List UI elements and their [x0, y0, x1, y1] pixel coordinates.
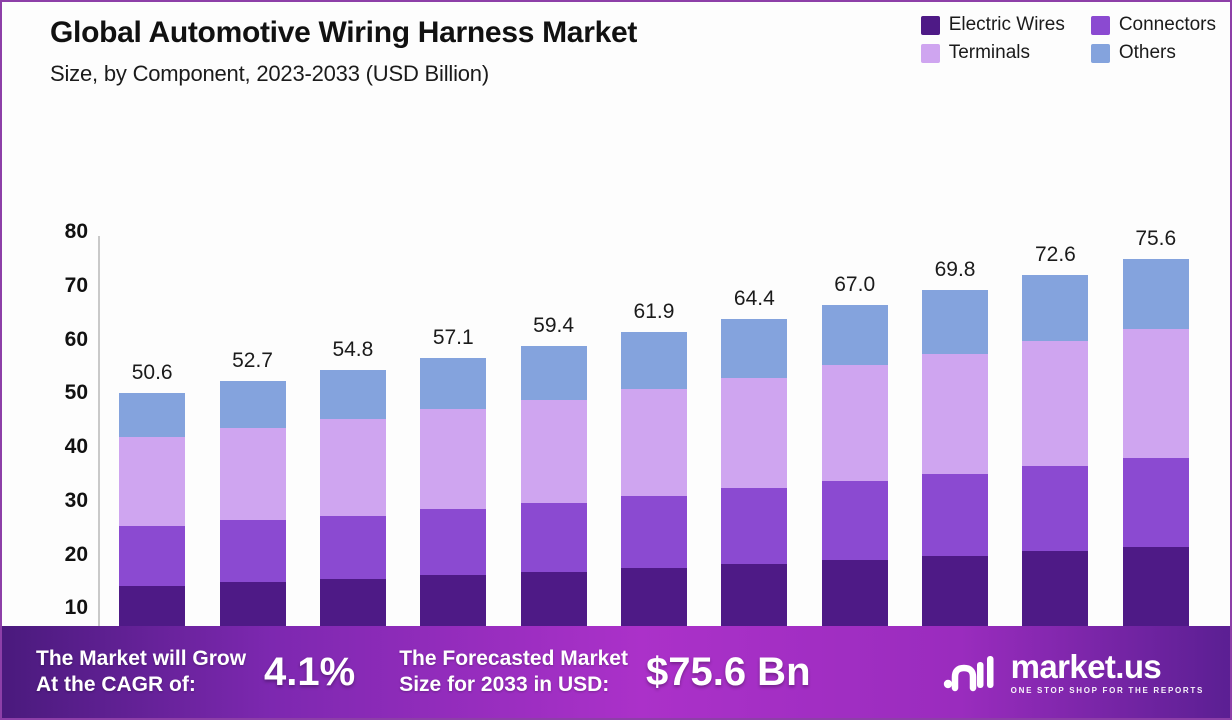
bar-column-2030[interactable]: 67.0	[822, 236, 888, 662]
legend-swatch-icon	[1091, 16, 1110, 35]
bar-column-2024[interactable]: 52.7	[220, 236, 286, 662]
forecast-value: $75.6 Bn	[646, 650, 811, 695]
y-axis-tick-40: 40	[46, 435, 88, 459]
bar-segment-connectors[interactable]	[1123, 458, 1189, 547]
bar-total-label: 57.1	[433, 326, 474, 350]
legend-label: Electric Wires	[949, 14, 1065, 36]
bar-segment-others[interactable]	[822, 305, 888, 365]
legend-label: Others	[1119, 42, 1176, 64]
brand-text: market.us ONE STOP SHOP FOR THE REPORTS	[1011, 650, 1204, 695]
bar-segment-others[interactable]	[420, 358, 486, 409]
bar-segment-connectors[interactable]	[621, 496, 687, 568]
bar-segment-connectors[interactable]	[119, 526, 185, 586]
bar-segment-others[interactable]	[320, 370, 386, 419]
bar-segment-others[interactable]	[922, 290, 988, 353]
page-subtitle: Size, by Component, 2023-2033 (USD Billi…	[50, 61, 1212, 87]
legend-item-electric-wires[interactable]: Electric Wires	[921, 14, 1065, 36]
cagr-label: The Market will Grow At the CAGR of:	[36, 646, 246, 697]
bar-segment-others[interactable]	[521, 346, 587, 400]
y-axis-tick-50: 50	[46, 381, 88, 405]
bar-segment-terminals[interactable]	[721, 378, 787, 489]
bar-total-label: 69.8	[935, 258, 976, 282]
forecast-block: The Forecasted Market Size for 2033 in U…	[399, 646, 810, 697]
bar-column-2025[interactable]: 54.8	[320, 236, 386, 662]
legend-item-connectors[interactable]: Connectors	[1091, 14, 1216, 36]
chart-legend: Electric WiresConnectorsTerminalsOthers	[921, 14, 1216, 64]
bar-total-label: 64.4	[734, 287, 775, 311]
market-us-logo-icon	[941, 650, 999, 694]
bar-segment-terminals[interactable]	[420, 409, 486, 509]
brand-name: market.us	[1011, 650, 1204, 683]
bar-column-2032[interactable]: 72.6	[1022, 236, 1088, 662]
bar-column-2029[interactable]: 64.4	[721, 236, 787, 662]
bar-column-2028[interactable]: 61.9	[621, 236, 687, 662]
bar-segment-terminals[interactable]	[922, 354, 988, 474]
bar-total-label: 52.7	[232, 349, 273, 373]
bar-segment-others[interactable]	[621, 332, 687, 389]
legend-swatch-icon	[921, 16, 940, 35]
bar-segment-terminals[interactable]	[320, 419, 386, 515]
forecast-label: The Forecasted Market Size for 2033 in U…	[399, 646, 628, 697]
bar-segment-others[interactable]	[220, 381, 286, 427]
legend-swatch-icon	[1091, 44, 1110, 63]
bar-segment-others[interactable]	[721, 319, 787, 378]
cagr-block: The Market will Grow At the CAGR of: 4.1…	[36, 646, 355, 697]
bar-group: 50.652.754.857.159.461.964.467.069.872.6…	[102, 236, 1206, 662]
bar-column-2023[interactable]: 50.6	[119, 236, 185, 662]
cagr-value: 4.1%	[264, 650, 355, 695]
bar-segment-terminals[interactable]	[1022, 341, 1088, 465]
y-axis-line	[98, 236, 100, 664]
footer-banner: The Market will Grow At the CAGR of: 4.1…	[2, 626, 1230, 718]
bar-segment-connectors[interactable]	[1022, 466, 1088, 552]
bar-segment-terminals[interactable]	[220, 428, 286, 521]
bar-segment-connectors[interactable]	[521, 503, 587, 572]
bar-total-label: 72.6	[1035, 243, 1076, 267]
bar-segment-terminals[interactable]	[822, 365, 888, 481]
bar-segment-terminals[interactable]	[521, 400, 587, 503]
y-axis-tick-70: 70	[46, 274, 88, 298]
bar-column-2031[interactable]: 69.8	[922, 236, 988, 662]
bar-segment-terminals[interactable]	[1123, 329, 1189, 458]
y-axis-tick-10: 10	[46, 596, 88, 620]
plot-area: 01020304050607080 50.652.754.857.159.461…	[2, 114, 1230, 626]
chart-header: Global Automotive Wiring Harness Market …	[2, 2, 1230, 114]
infographic-root: Global Automotive Wiring Harness Market …	[0, 0, 1232, 720]
y-axis-ticks: 01020304050607080	[46, 232, 88, 662]
brand-logo[interactable]: market.us ONE STOP SHOP FOR THE REPORTS	[941, 650, 1218, 695]
legend-label: Terminals	[949, 42, 1030, 64]
y-axis-tick-80: 80	[46, 220, 88, 244]
bar-total-label: 54.8	[332, 338, 373, 362]
bar-segment-connectors[interactable]	[922, 474, 988, 556]
bar-segment-connectors[interactable]	[721, 488, 787, 564]
legend-label: Connectors	[1119, 14, 1216, 36]
bar-column-2026[interactable]: 57.1	[420, 236, 486, 662]
bar-total-label: 75.6	[1135, 227, 1176, 251]
bar-segment-others[interactable]	[1123, 259, 1189, 328]
legend-swatch-icon	[921, 44, 940, 63]
bar-total-label: 67.0	[834, 273, 875, 297]
bar-column-2033[interactable]: 75.6	[1123, 236, 1189, 662]
bar-segment-connectors[interactable]	[420, 509, 486, 576]
bar-segment-connectors[interactable]	[220, 520, 286, 582]
bar-segment-connectors[interactable]	[822, 481, 888, 560]
brand-tagline: ONE STOP SHOP FOR THE REPORTS	[1011, 686, 1204, 695]
bar-segment-others[interactable]	[1022, 275, 1088, 341]
bar-column-2027[interactable]: 59.4	[521, 236, 587, 662]
bar-total-label: 50.6	[132, 361, 173, 385]
bar-segment-terminals[interactable]	[119, 437, 185, 526]
bar-total-label: 61.9	[634, 300, 675, 324]
legend-item-terminals[interactable]: Terminals	[921, 42, 1065, 64]
legend-item-others[interactable]: Others	[1091, 42, 1216, 64]
bar-segment-terminals[interactable]	[621, 389, 687, 496]
y-axis-tick-60: 60	[46, 328, 88, 352]
y-axis-tick-30: 30	[46, 489, 88, 513]
y-axis-tick-20: 20	[46, 543, 88, 567]
bar-segment-others[interactable]	[119, 393, 185, 438]
bar-total-label: 59.4	[533, 314, 574, 338]
bar-segment-connectors[interactable]	[320, 516, 386, 579]
